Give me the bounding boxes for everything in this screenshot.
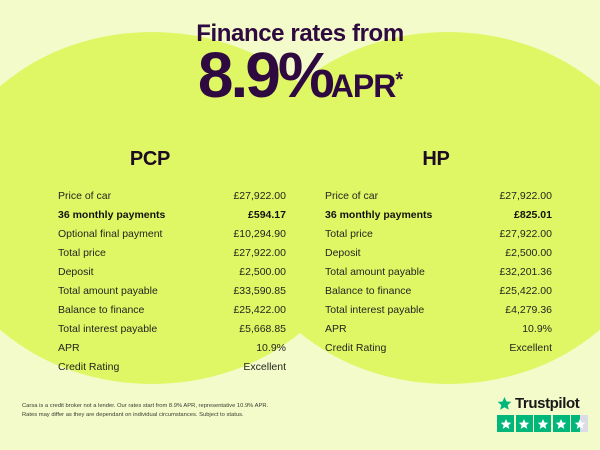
plan-rows-pcp: Price of car£27,922.00 36 monthly paymen… <box>0 187 300 377</box>
row-value: £33,590.85 <box>233 282 286 301</box>
plan-title-hp: HP <box>286 148 586 171</box>
row-label: Optional final payment <box>58 225 162 244</box>
rating-star-5-half <box>571 415 588 432</box>
finance-rates-card: Finance rates from 8.9% APR* PCP Price o… <box>0 0 600 450</box>
disclaimer-line-2: Rates may differ as they are dependant o… <box>22 411 352 420</box>
row-value: £825.01 <box>514 206 552 225</box>
row-label: 36 monthly payments <box>58 206 165 225</box>
table-row: Price of car£27,922.00 <box>58 187 286 206</box>
table-row: Deposit£2,500.00 <box>58 263 286 282</box>
row-label: Total amount payable <box>325 263 425 282</box>
row-label: APR <box>58 339 80 358</box>
plan-title-pcp: PCP <box>0 148 300 171</box>
table-row: Total amount payable£33,590.85 <box>58 282 286 301</box>
plan-column-pcp: PCP Price of car£27,922.00 36 monthly pa… <box>0 148 300 377</box>
table-row: Total interest payable£4,279.36 <box>325 301 552 320</box>
apr-asterisk: * <box>395 69 402 91</box>
table-row: 36 monthly payments£594.17 <box>58 206 286 225</box>
trustpilot-widget[interactable]: Trustpilot <box>497 395 588 432</box>
table-row: 36 monthly payments£825.01 <box>325 206 552 225</box>
row-label: Credit Rating <box>325 339 386 358</box>
table-row: APR10.9% <box>58 339 286 358</box>
plan-comparison: PCP Price of car£27,922.00 36 monthly pa… <box>0 148 600 377</box>
row-label: Total price <box>325 225 373 244</box>
row-value: £2,500.00 <box>239 263 286 282</box>
row-label: Price of car <box>325 187 378 206</box>
trustpilot-star-icon <box>497 396 512 411</box>
apr-rate-value: 8.9% <box>198 46 332 105</box>
row-value: £10,294.90 <box>233 225 286 244</box>
hero-header: Finance rates from 8.9% APR* <box>0 0 600 105</box>
row-label: Deposit <box>325 244 361 263</box>
row-label: Credit Rating <box>58 358 119 377</box>
apr-label: APR* <box>331 70 402 105</box>
hero-rate-line: 8.9% APR* <box>0 46 600 105</box>
rating-star-3 <box>534 415 551 432</box>
table-row: Credit RatingExcellent <box>325 339 552 358</box>
table-row: Deposit£2,500.00 <box>325 244 552 263</box>
row-value: £25,422.00 <box>499 282 552 301</box>
table-row: APR10.9% <box>325 320 552 339</box>
row-value: Excellent <box>509 339 552 358</box>
row-value: £27,922.00 <box>233 187 286 206</box>
row-label: Total price <box>58 244 106 263</box>
row-label: Total amount payable <box>58 282 158 301</box>
table-row: Total price£27,922.00 <box>58 244 286 263</box>
disclaimer-text: Carsa is a credit broker not a lender. O… <box>22 402 352 420</box>
plan-rows-hp: Price of car£27,922.00 36 monthly paymen… <box>300 187 600 358</box>
row-value: £4,279.36 <box>505 301 552 320</box>
row-label: Balance to finance <box>325 282 411 301</box>
row-value: £32,201.36 <box>499 263 552 282</box>
table-row: Optional final payment£10,294.90 <box>58 225 286 244</box>
table-row: Balance to finance£25,422.00 <box>325 282 552 301</box>
row-value: £594.17 <box>248 206 286 225</box>
row-value: 10.9% <box>256 339 286 358</box>
table-row: Price of car£27,922.00 <box>325 187 552 206</box>
table-row: Total interest payable£5,668.85 <box>58 320 286 339</box>
table-row: Credit RatingExcellent <box>58 358 286 377</box>
table-row: Balance to finance£25,422.00 <box>58 301 286 320</box>
row-label: Deposit <box>58 263 94 282</box>
trustpilot-rating-stars <box>497 415 588 432</box>
apr-label-text: APR <box>331 68 396 104</box>
trustpilot-brand: Trustpilot <box>497 395 588 412</box>
row-value: £25,422.00 <box>233 301 286 320</box>
row-label: APR <box>325 320 347 339</box>
row-label: 36 monthly payments <box>325 206 432 225</box>
rating-star-2 <box>516 415 533 432</box>
row-label: Total interest payable <box>325 301 424 320</box>
table-row: Total price£27,922.00 <box>325 225 552 244</box>
disclaimer-line-1: Carsa is a credit broker not a lender. O… <box>22 402 352 411</box>
table-row: Total amount payable£32,201.36 <box>325 263 552 282</box>
row-value: 10.9% <box>522 320 552 339</box>
row-value: £2,500.00 <box>505 244 552 263</box>
row-value: £27,922.00 <box>233 244 286 263</box>
row-value: £27,922.00 <box>499 187 552 206</box>
row-value: Excellent <box>243 358 286 377</box>
row-label: Price of car <box>58 187 111 206</box>
row-label: Balance to finance <box>58 301 144 320</box>
rating-star-4 <box>553 415 570 432</box>
row-value: £27,922.00 <box>499 225 552 244</box>
trustpilot-wordmark: Trustpilot <box>515 395 579 412</box>
rating-star-1 <box>497 415 514 432</box>
row-label: Total interest payable <box>58 320 157 339</box>
row-value: £5,668.85 <box>239 320 286 339</box>
plan-column-hp: HP Price of car£27,922.00 36 monthly pay… <box>300 148 600 377</box>
